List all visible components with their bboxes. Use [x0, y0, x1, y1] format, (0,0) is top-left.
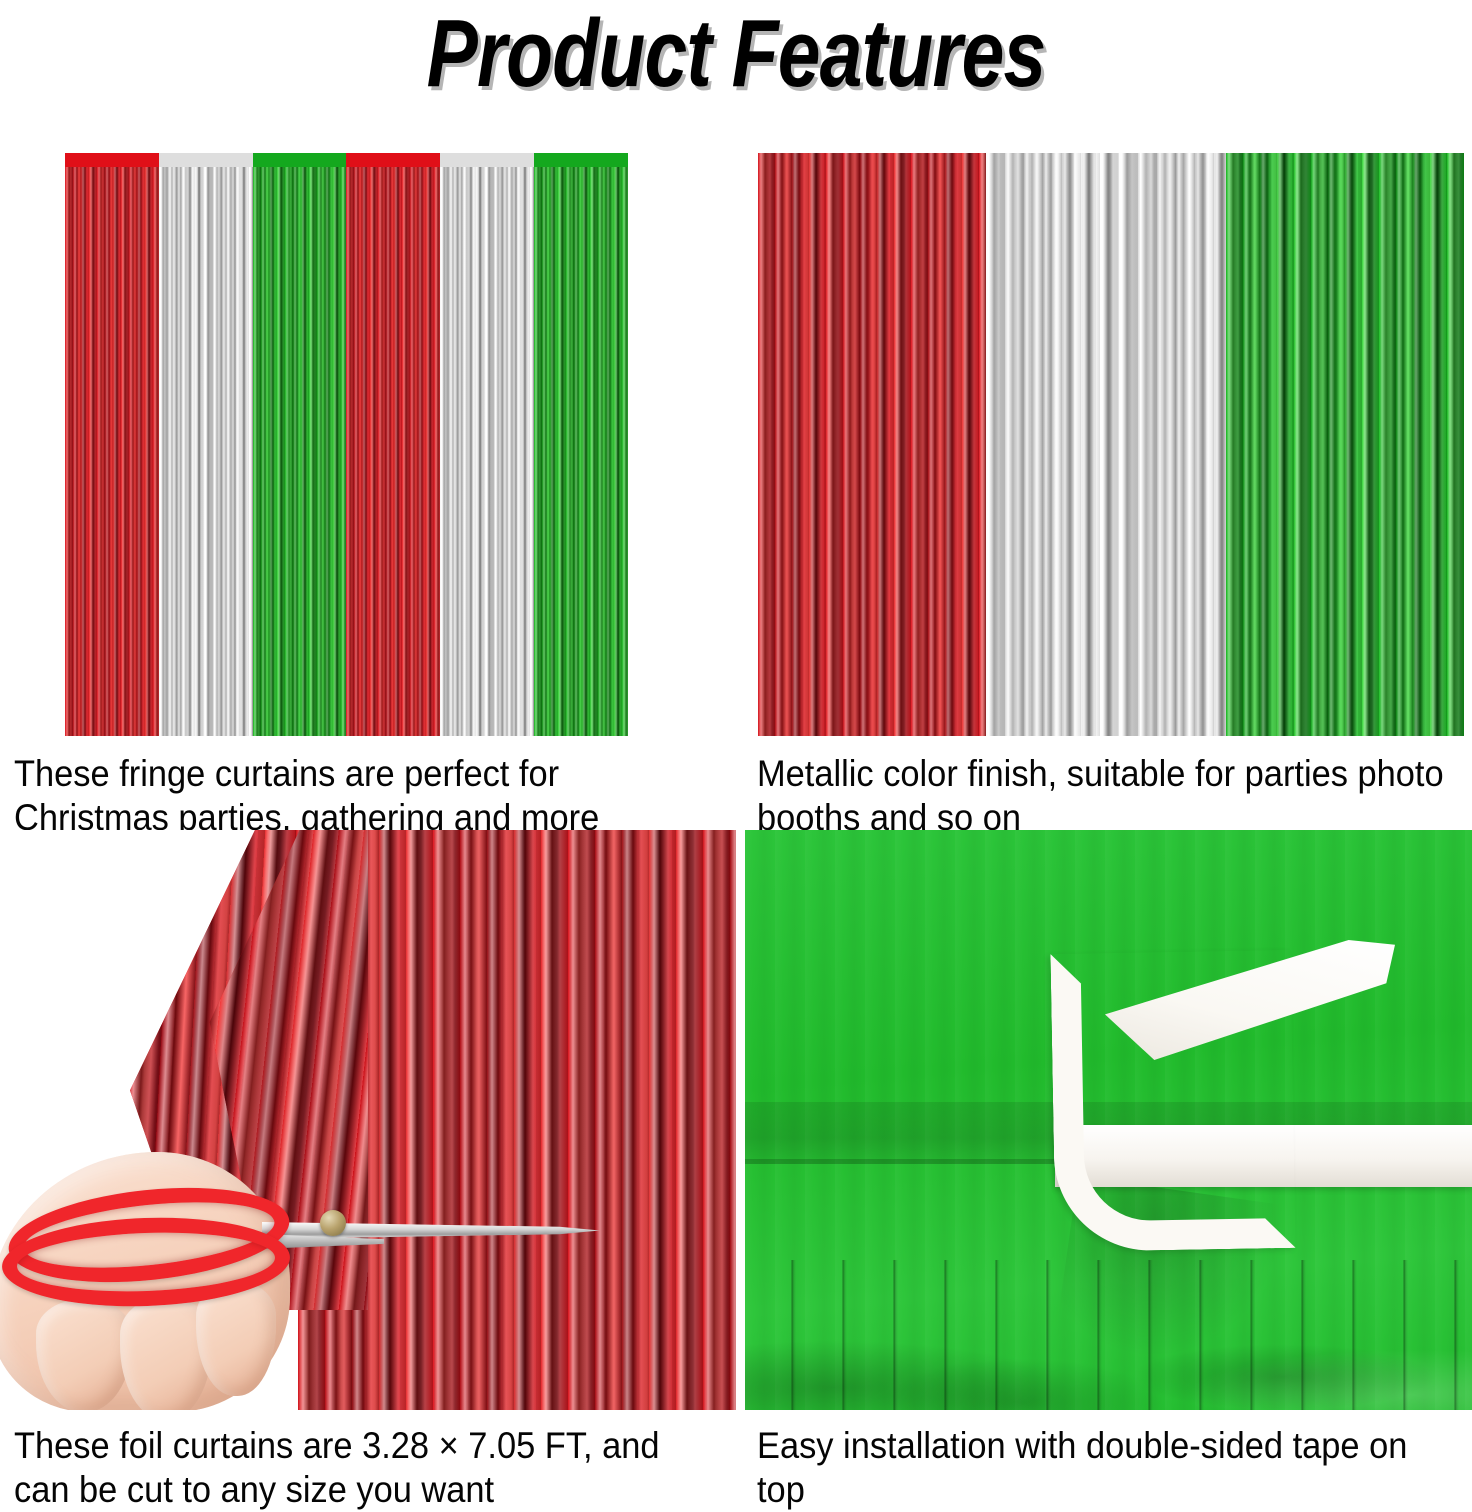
curtain-header-band [159, 153, 253, 167]
curtain-fringe [440, 167, 534, 736]
curtain-fringe [65, 167, 159, 736]
tape-scene [745, 830, 1472, 1410]
curtain-strip-red-1 [65, 153, 159, 736]
curtain-fringe [346, 167, 440, 736]
curtain-header-band [534, 153, 628, 167]
cutting-scene [0, 830, 736, 1410]
fringe-closeup [758, 153, 1464, 736]
scissors-pivot-screw [320, 1210, 346, 1236]
curtain-wall [65, 153, 628, 736]
feature-caption-2: Metallic color finish, suitable for part… [757, 752, 1445, 840]
feature-caption-3: These foil curtains are 3.28 × 7.05 FT, … [14, 1424, 721, 1512]
feature-image-fringe-closeup [758, 153, 1464, 736]
feature-caption-1: These fringe curtains are perfect for Ch… [14, 752, 721, 840]
curtain-strip-green-2 [534, 153, 628, 736]
curtain-header-band [253, 153, 347, 167]
page-title: Product Features [147, 2, 1325, 106]
closeup-band-silver [986, 153, 1226, 736]
closeup-band-red [758, 153, 986, 736]
curtain-strip-silver-2 [440, 153, 534, 736]
feature-caption-4: Easy installation with double-sided tape… [757, 1424, 1445, 1512]
curtain-fringe [159, 167, 253, 736]
feature-image-double-sided-tape [745, 830, 1472, 1410]
closeup-band-green [1226, 153, 1464, 736]
feature-image-fringe-curtain-wall [65, 153, 628, 736]
curtain-strip-red-2 [346, 153, 440, 736]
curtain-fringe [253, 167, 347, 736]
curtain-strip-green-1 [253, 153, 347, 736]
feature-image-cutting-with-scissors [0, 830, 736, 1410]
curtain-strip-silver-1 [159, 153, 253, 736]
curtain-header-band [346, 153, 440, 167]
curtain-fringe [534, 167, 628, 736]
green-fringe-cuts [745, 1260, 1472, 1410]
curtain-header-band [65, 153, 159, 167]
curtain-header-band [440, 153, 534, 167]
